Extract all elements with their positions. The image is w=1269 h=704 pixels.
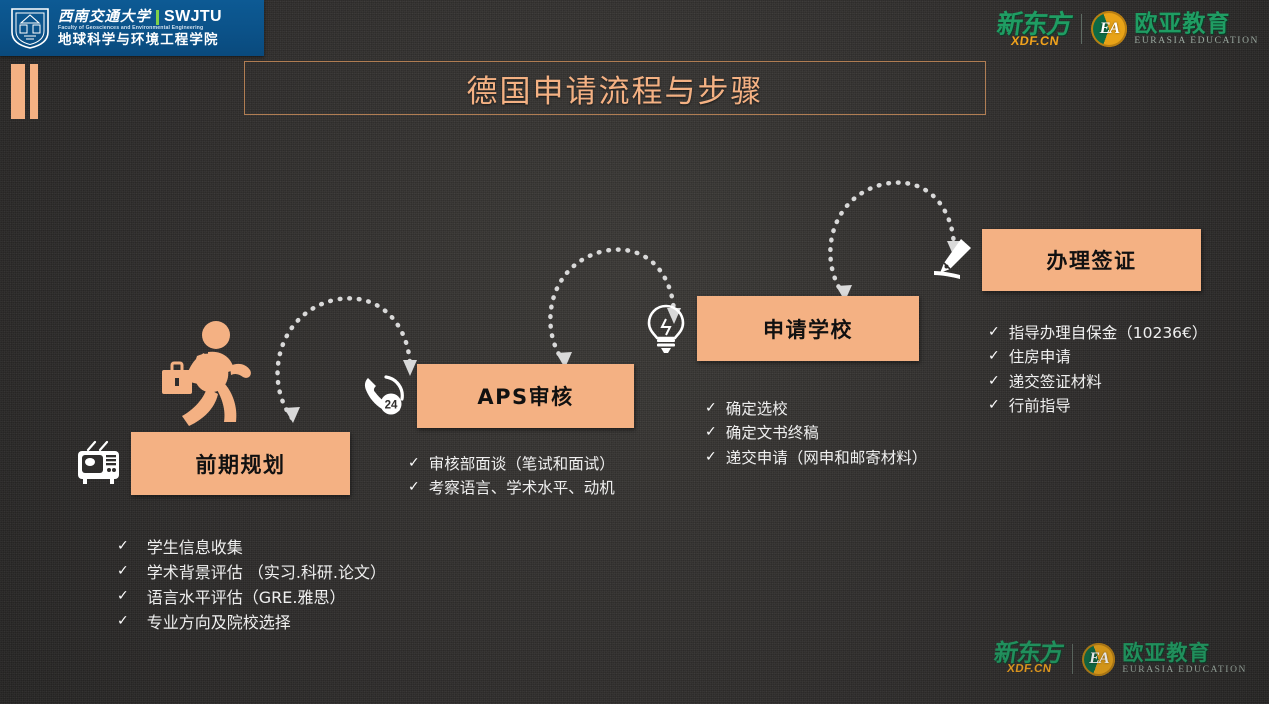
bullet-text: 递交申请（网申和邮寄材料） [726, 447, 985, 470]
check-icon: ✓ [988, 346, 1000, 368]
step-box-3[interactable]: 申请学校 [697, 296, 919, 361]
university-abbr: SWJTU [164, 9, 222, 25]
list-item: ✓ 递交申请（网申和邮寄材料） [705, 447, 985, 470]
university-header: 西南交通大学 SWJTU Faculty of Geosciences and … [0, 0, 264, 56]
accent-bar-2 [30, 64, 38, 119]
bullet-text: 审核部面谈（笔试和面试） [429, 453, 680, 476]
bullet-text: 学术背景评估 （实习.科研.论文） [147, 561, 417, 585]
bullet-text: 语言水平评估（GRE.雅思） [147, 586, 417, 610]
faculty-name-en: Faculty of Geosciences and Environmental… [58, 26, 222, 31]
lightbulb-icon [645, 303, 687, 355]
check-icon: ✓ [705, 398, 717, 420]
svg-text:24: 24 [385, 399, 398, 411]
xdf-logo: 新东方 XDF.CN [997, 11, 1072, 48]
step-label-2: APS审核 [477, 381, 573, 411]
check-icon: ✓ [117, 586, 129, 608]
university-text-block: 西南交通大学 SWJTU Faculty of Geosciences and … [58, 9, 222, 47]
check-icon: ✓ [988, 371, 1000, 393]
list-item: ✓ 指导办理自保金（10236€） [988, 322, 1258, 345]
list-item: ✓ 确定选校 [705, 398, 985, 421]
bullet-text: 住房申请 [1009, 346, 1258, 369]
retro-tv-icon [75, 440, 122, 487]
eurasia-text-block: 欧亚教育 EURASIA EDUCATION [1122, 643, 1247, 676]
page-title: 德国申请流程与步骤 [467, 66, 764, 111]
accent-bar-1 [11, 64, 25, 119]
university-name-cn: 西南交通大学 [58, 10, 151, 25]
step-box-1[interactable]: 前期规划 [131, 432, 350, 495]
fountain-pen-icon [928, 235, 974, 281]
step-bullets-2: ✓ 审核部面谈（笔试和面试） ✓ 考察语言、学术水平、动机 [408, 453, 680, 502]
step-label-1: 前期规划 [196, 449, 286, 479]
eurasia-name-en: EURASIA EDUCATION [1122, 666, 1247, 676]
shield-crest-icon [9, 6, 51, 50]
bullet-text: 考察语言、学术水平、动机 [429, 477, 680, 500]
step-bullets-3: ✓ 确定选校 ✓ 确定文书终稿 ✓ 递交申请（网申和邮寄材料） [705, 398, 985, 471]
eurasia-coin-icon: EA [1082, 643, 1115, 676]
bullet-text: 指导办理自保金（10236€） [1009, 322, 1258, 345]
bullet-text: 学生信息收集 [147, 536, 417, 560]
xdf-name-en: XDF.CN [1010, 35, 1060, 48]
list-item: ✓ 行前指导 [988, 395, 1258, 418]
eurasia-logo: EA 欧亚教育 EURASIA EDUCATION [1091, 11, 1259, 47]
faculty-name-cn: 地球科学与环境工程学院 [58, 33, 222, 47]
step-box-4[interactable]: 办理签证 [982, 229, 1201, 291]
list-item: ✓ 审核部面谈（笔试和面试） [408, 453, 680, 476]
xdf-name-cn: 新东方 [996, 11, 1075, 37]
brand-logo-bottom: 新东方 XDF.CN EA 欧亚教育 EURASIA EDUCATION [994, 636, 1247, 682]
check-icon: ✓ [988, 395, 1000, 417]
step-label-4: 办理签证 [1047, 245, 1137, 275]
step-bullets-4: ✓ 指导办理自保金（10236€） ✓ 住房申请 ✓ 递交签证材料 ✓ 行前指导 [988, 322, 1258, 419]
check-icon: ✓ [408, 477, 420, 499]
step-box-2[interactable]: APS审核 [417, 364, 634, 428]
logo-divider-bar [156, 10, 159, 25]
check-icon: ✓ [705, 422, 717, 444]
eurasia-text-block: 欧亚教育 EURASIA EDUCATION [1134, 12, 1259, 47]
eurasia-coin-icon: EA [1091, 11, 1127, 47]
check-icon: ✓ [408, 453, 420, 475]
eurasia-name-en: EURASIA EDUCATION [1134, 37, 1259, 47]
accent-bars [11, 64, 38, 119]
list-item: ✓ 递交签证材料 [988, 371, 1258, 394]
check-icon: ✓ [705, 447, 717, 469]
eurasia-name-cn: 欧亚教育 [1134, 12, 1259, 35]
list-item: ✓ 住房申请 [988, 346, 1258, 369]
xdf-logo: 新东方 XDF.CN [994, 642, 1063, 676]
list-item: ✓ 专业方向及院校选择 [117, 611, 417, 635]
running-businessman-icon [160, 318, 265, 428]
bullet-text: 行前指导 [1009, 395, 1258, 418]
bullet-text: 确定选校 [726, 398, 985, 421]
check-icon: ✓ [988, 322, 1000, 344]
step-bullets-1: ✓ 学生信息收集 ✓ 学术背景评估 （实习.科研.论文） ✓ 语言水平评估（GR… [117, 536, 417, 636]
slide-canvas: 西南交通大学 SWJTU Faculty of Geosciences and … [0, 0, 1269, 704]
bullet-text: 递交签证材料 [1009, 371, 1258, 394]
brand-logo-top: 新东方 XDF.CN EA 欧亚教育 EURASIA EDUCATION [997, 7, 1259, 51]
eurasia-monogram: EA [1089, 650, 1108, 668]
check-icon: ✓ [117, 611, 129, 633]
bullet-text: 确定文书终稿 [726, 422, 985, 445]
bullet-text: 专业方向及院校选择 [147, 611, 417, 635]
list-item: ✓ 确定文书终稿 [705, 422, 985, 445]
eurasia-name-cn: 欧亚教育 [1122, 643, 1247, 664]
step-label-3: 申请学校 [763, 314, 853, 344]
phone-24h-support-icon: 24 [360, 372, 406, 418]
eurasia-logo: EA 欧亚教育 EURASIA EDUCATION [1082, 643, 1247, 676]
slide-title-box: 德国申请流程与步骤 [244, 61, 986, 115]
logo-divider [1081, 14, 1082, 44]
logo-divider [1072, 644, 1073, 674]
check-icon: ✓ [117, 536, 129, 558]
list-item: ✓ 考察语言、学术水平、动机 [408, 477, 680, 500]
eurasia-monogram: EA [1100, 20, 1119, 38]
list-item: ✓ 语言水平评估（GRE.雅思） [117, 586, 417, 610]
check-icon: ✓ [117, 561, 129, 583]
list-item: ✓ 学术背景评估 （实习.科研.论文） [117, 561, 417, 585]
xdf-name-en: XDF.CN [1006, 664, 1052, 676]
list-item: ✓ 学生信息收集 [117, 536, 417, 560]
